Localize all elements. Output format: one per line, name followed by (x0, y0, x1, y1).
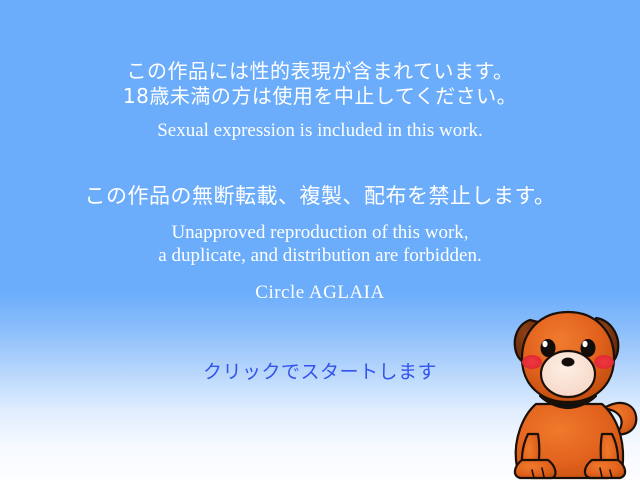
dog-eye-right (581, 339, 596, 357)
dog-blush-left (522, 355, 542, 369)
dog-paw-left (515, 460, 556, 478)
warning-jp-line1: この作品には性的表現が含まれています。 (0, 58, 640, 84)
dog-eye-highlight-right (582, 341, 587, 347)
copyright-en-line2: a duplicate, and distribution are forbid… (0, 245, 640, 267)
copyright-en-line1: Unapproved reproduction of this work, (0, 222, 640, 244)
dog-nose (562, 358, 575, 367)
dog-blush-right (594, 355, 614, 369)
warning-en-line1: Sexual expression is included in this wo… (0, 120, 640, 142)
dog-eye-highlight-left (542, 341, 547, 347)
dog-mascot-icon (500, 300, 640, 480)
title-screen[interactable]: この作品には性的表現が含まれています。 18歳未満の方は使用を中止してください。… (0, 0, 640, 480)
copyright-jp-line1: この作品の無断転載、複製、配布を禁止します。 (0, 180, 640, 210)
dog-paw-right (585, 460, 625, 478)
dog-eye-left (541, 339, 556, 357)
warning-jp-line2: 18歳未満の方は使用を中止してください。 (0, 83, 640, 109)
